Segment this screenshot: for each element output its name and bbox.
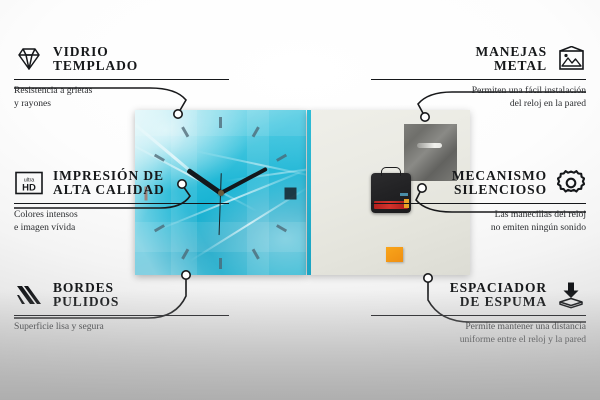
feature-description: Las manecillas del reloj no emiten ningú… [371,209,586,235]
feature-impresion-hd: ultra HD IMPRESIÓN DE ALTA CALIDAD Color… [14,168,229,235]
feature-header: VIDRIO TEMPLADO [14,44,229,74]
feature-divider [14,79,229,80]
feature-divider [371,79,586,80]
feature-header: BORDES PULIDOS [14,280,229,310]
feature-header: MECANISMO SILENCIOSO [371,168,586,198]
feature-mecanismo-silencioso: MECANISMO SILENCIOSO Las manecillas del … [371,168,586,235]
feature-title-line-1: MANEJAS [475,45,547,59]
feature-description: Colores intensos e imagen vívida [14,209,229,235]
feature-title: ESPACIADOR DE ESPUMA [450,281,547,309]
feature-espaciador-espuma: ESPACIADOR DE ESPUMA Permite mantener un… [371,280,586,347]
glass-edge [307,110,311,275]
feature-title: MANEJAS METAL [475,45,547,73]
feature-title-line-2: ALTA CALIDAD [53,183,165,197]
picture-frame-icon [556,44,586,74]
feature-divider [14,203,229,204]
feature-title: VIDRIO TEMPLADO [53,45,138,73]
feature-bordes-pulidos: BORDES PULIDOS Superficie lisa y segura [14,280,229,334]
product-infographic: VIDRIO TEMPLADO Resistencia a grietas y … [0,0,600,400]
feature-divider [371,315,586,316]
feature-vidrio-templado: VIDRIO TEMPLADO Resistencia a grietas y … [14,44,229,111]
feature-title-line-2: PULIDOS [53,295,119,309]
feature-header: ESPACIADOR DE ESPUMA [371,280,586,310]
feature-title-line-1: VIDRIO [53,45,138,59]
hanger-slot [417,143,442,148]
feature-title: IMPRESIÓN DE ALTA CALIDAD [53,169,165,197]
feature-title-line-1: ESPACIADOR [450,281,547,295]
feature-title: MECANISMO SILENCIOSO [452,169,547,197]
feature-header: MANEJAS METAL [371,44,586,74]
feature-title-line-2: DE ESPUMA [450,295,547,309]
foam-spacer-arrow-icon [556,280,586,310]
feature-title: BORDES PULIDOS [53,281,119,309]
foam-spacer [386,247,403,262]
diamond-icon [14,44,44,74]
feature-title-line-1: MECANISMO [452,169,547,183]
feature-description: Permiten una fácil instalación del reloj… [371,85,586,111]
feature-title-line-2: TEMPLADO [53,59,138,73]
feature-divider [371,203,586,204]
feature-title-line-2: SILENCIOSO [452,183,547,197]
feature-title-line-2: METAL [475,59,547,73]
svg-text:HD: HD [22,183,36,194]
polished-edges-icon [14,280,44,310]
feature-manejas-metal: MANEJAS METAL Permiten una fácil instala… [371,44,586,111]
feature-description: Permite mantener una distancia uniforme … [371,321,586,347]
feature-title-line-1: IMPRESIÓN DE [53,169,165,183]
feature-divider [14,315,229,316]
gear-icon [556,168,586,198]
feature-title-line-1: BORDES [53,281,119,295]
feature-header: ultra HD IMPRESIÓN DE ALTA CALIDAD [14,168,229,198]
feature-description: Superficie lisa y segura [14,321,229,334]
feature-description: Resistencia a grietas y rayones [14,85,229,111]
ultra-hd-icon: ultra HD [14,168,44,198]
